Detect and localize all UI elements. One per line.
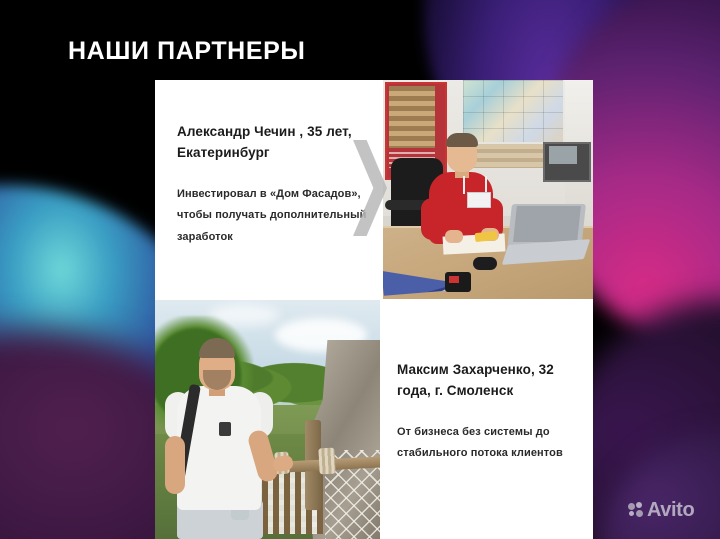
slide-canvas: НАШИ ПАРТНЕРЫ Александр Чечин , 35 лет, … xyxy=(0,0,720,539)
testimonial-photo xyxy=(383,80,593,299)
testimonials-card: Александр Чечин , 35 лет, Екатеринбург И… xyxy=(155,80,593,539)
testimonial-description: Инвестировал в «Дом Фасадов», чтобы полу… xyxy=(177,184,367,248)
testimonial-description: От бизнеса без системы до стабильного по… xyxy=(397,422,579,465)
testimonial-row: Максим Захарченко, 32 года, г. Смоленск … xyxy=(155,300,593,539)
avito-watermark: Avito xyxy=(628,500,694,520)
testimonial-name: Александр Чечин , 35 лет, Екатеринбург xyxy=(177,122,367,164)
avito-brand-text: Avito xyxy=(647,500,694,520)
office-photo-illustration xyxy=(383,80,593,299)
testimonial-text-pane: Максим Захарченко, 32 года, г. Смоленск … xyxy=(380,300,593,539)
outdoor-photo-illustration xyxy=(155,300,380,539)
testimonial-text-pane: Александр Чечин , 35 лет, Екатеринбург И… xyxy=(155,80,385,299)
testimonial-photo xyxy=(155,300,380,539)
testimonial-row: Александр Чечин , 35 лет, Екатеринбург И… xyxy=(155,80,593,299)
avito-dots-icon xyxy=(628,502,644,518)
testimonial-name: Максим Захарченко, 32 года, г. Смоленск xyxy=(397,360,579,402)
page-title: НАШИ ПАРТНЕРЫ xyxy=(68,38,305,66)
